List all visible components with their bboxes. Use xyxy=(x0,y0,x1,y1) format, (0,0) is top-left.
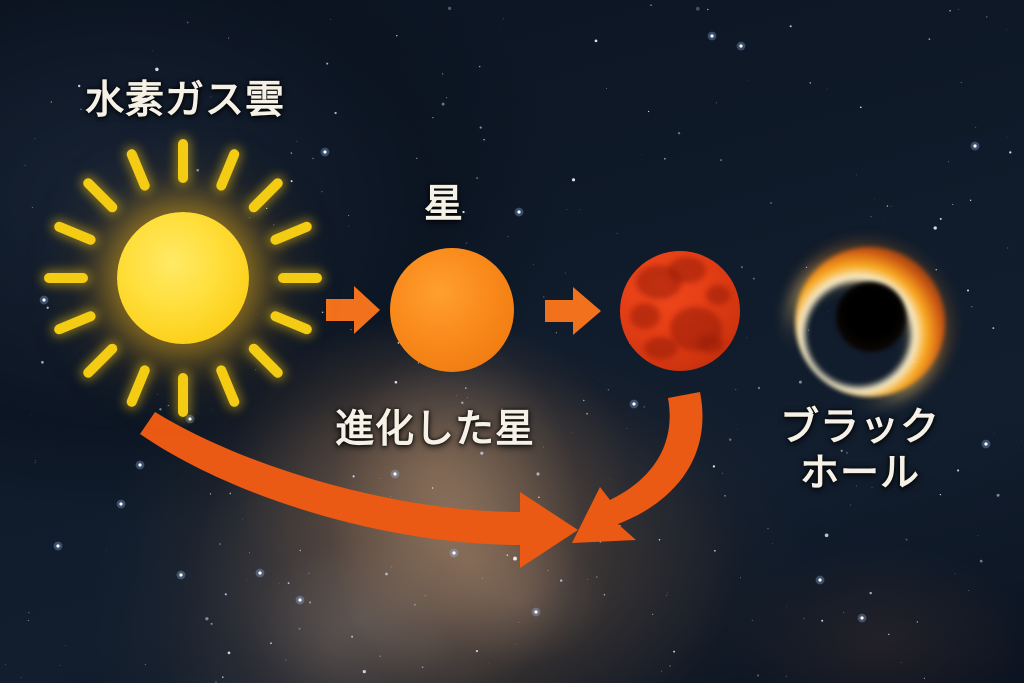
label-black-hole: ブラック ホール xyxy=(780,405,940,497)
arrow-star-to-evolved xyxy=(545,287,601,335)
black-hole-icon xyxy=(795,247,945,397)
stellar-evolution-diagram: 水素ガス雲 星 進化した星 ブラック ホール xyxy=(0,0,1024,683)
label-hydrogen-cloud: 水素ガス雲 xyxy=(85,78,285,124)
label-star: 星 xyxy=(424,182,464,228)
orange-sphere-icon xyxy=(390,248,514,372)
label-evolved-star: 進化した星 xyxy=(335,407,535,453)
event-horizon xyxy=(836,282,906,352)
arrow-cloud-to-star xyxy=(326,286,380,334)
red-giant-icon xyxy=(620,251,740,371)
